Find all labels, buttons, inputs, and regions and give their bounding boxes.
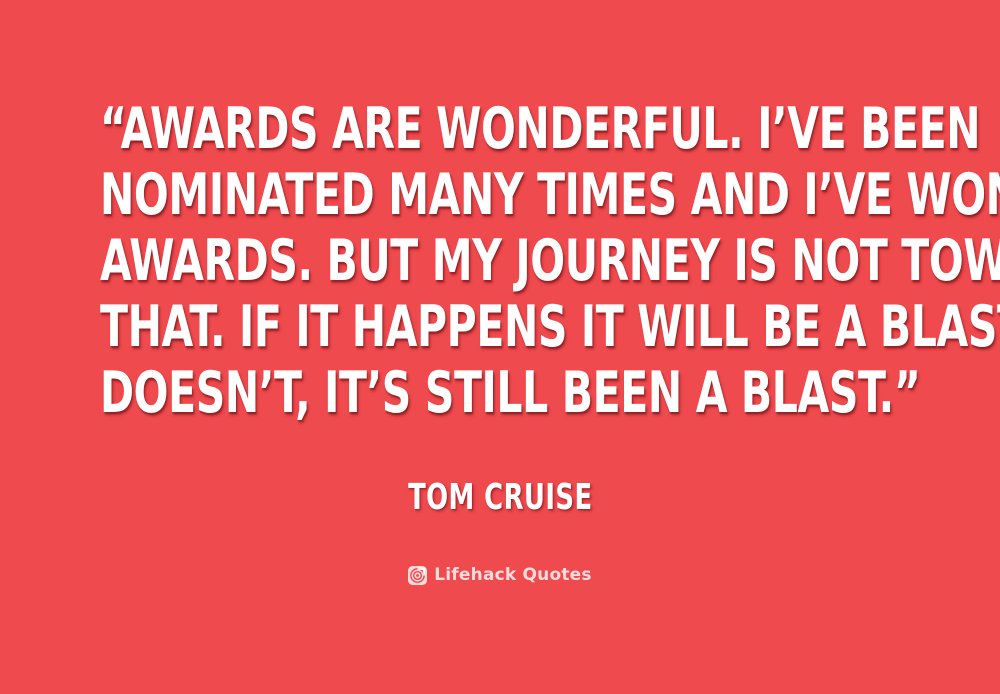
quote-line: AWARDS. BUT MY JOURNEY IS NOT TOWARDS [100, 228, 900, 294]
footer-branding: Lifehack Quotes [0, 566, 1000, 585]
quote-line: “AWARDS ARE WONDERFUL. I’VE BEEN [100, 96, 900, 162]
brand-name: Lifehack Quotes [434, 566, 591, 585]
author-name: TOM CRUISE [408, 477, 593, 519]
lifehack-circle-logo-icon [408, 566, 427, 585]
quote-text: “AWARDS ARE WONDERFUL. I’VE BEEN NOMINAT… [0, 96, 1000, 426]
quote-line: NOMINATED MANY TIMES AND I’VE WON MANY [100, 162, 900, 228]
quote-line: DOESN’T, IT’S STILL BEEN A BLAST.” [100, 360, 900, 426]
quote-author: TOM CRUISE [0, 477, 1000, 519]
quote-line: THAT. IF IT HAPPENS IT WILL BE A BLAST. … [100, 294, 900, 360]
quote-card: “AWARDS ARE WONDERFUL. I’VE BEEN NOMINAT… [0, 0, 1000, 694]
